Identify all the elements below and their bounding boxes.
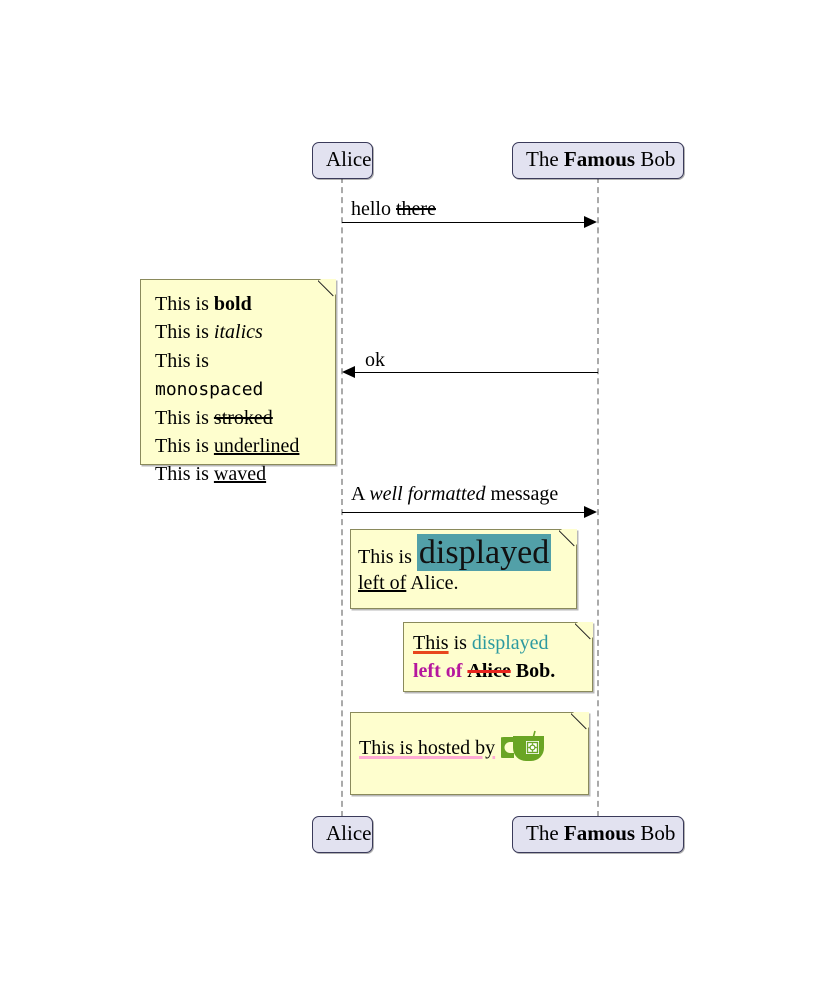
note-line-monospace-word: monospaced <box>155 379 263 400</box>
note-fold-edge-icon <box>559 530 576 547</box>
note-colored-teal: displayed <box>472 632 549 654</box>
note-colored-content: This is displayed left of Alice Bob. <box>404 623 592 692</box>
participant-alice-top[interactable]: Alice <box>312 142 373 179</box>
lifeline-alice <box>341 177 343 817</box>
note-line-waved-word: waved <box>214 463 266 485</box>
note-line-italic: This is italics <box>155 318 321 346</box>
note-hosted: This is hosted by <box>350 712 589 795</box>
message-ok-arrowhead-icon <box>342 366 355 378</box>
participant-bob-label-bold: Famous <box>564 821 635 845</box>
note-displayed-line2: left of Alice. <box>358 570 566 596</box>
note-line-monospace-prefix: This is <box>155 350 209 372</box>
message-formatted-text-italic: well formatted <box>369 483 485 505</box>
message-hello-label: hello there <box>351 199 436 219</box>
note-line-bold: This is bold <box>155 290 321 318</box>
message-formatted-line <box>342 512 586 513</box>
message-hello-line <box>342 222 586 223</box>
note-line-italic-prefix: This is <box>155 321 214 343</box>
note-formatting: This is bold This is italics This is mon… <box>140 279 336 465</box>
participant-bob-top[interactable]: The Famous Bob <box>512 142 684 179</box>
note-hosted-content: This is hosted by <box>351 713 588 783</box>
note-displayed-line1: This is displayed <box>358 536 566 570</box>
note-line-waved: This is waved <box>155 460 321 488</box>
note-colored: This is displayed left of Alice Bob. <box>403 622 593 692</box>
note-colored-bold: Bob. <box>511 660 555 682</box>
lifeline-bob <box>597 177 599 817</box>
sequence-diagram: Alice The Famous Bob hello there This is… <box>0 0 826 992</box>
note-colored-mid: is <box>449 632 472 654</box>
note-line-italic-word: italics <box>214 321 263 343</box>
note-displayed: This is displayed left of Alice. <box>350 529 577 609</box>
green-teacup-logo-icon <box>501 729 549 773</box>
note-line-stroked-prefix: This is <box>155 407 214 429</box>
participant-alice-label: Alice <box>326 147 371 171</box>
note-colored-line2: left of Alice Bob. <box>413 658 582 686</box>
message-hello-struck: there <box>396 198 436 220</box>
note-fold-edge-icon <box>571 713 588 730</box>
note-colored-magenta: left of <box>413 660 462 682</box>
message-formatted-text-a: A <box>351 483 369 505</box>
message-ok-label: ok <box>365 350 385 370</box>
note-colored-underlined: This <box>413 632 449 654</box>
message-ok-text: ok <box>365 349 385 371</box>
participant-bob-bottom[interactable]: The Famous Bob <box>512 816 684 853</box>
note-line-stroked-word: stroked <box>214 407 273 429</box>
note-line-monospace: This is monospaced <box>155 347 321 404</box>
participant-bob-label-prefix: The <box>526 821 564 845</box>
note-displayed-suffix: Alice. <box>406 572 458 594</box>
note-displayed-content: This is displayed left of Alice. <box>351 530 576 602</box>
message-hello-arrowhead-icon <box>584 216 597 228</box>
note-hosted-text: This is hosted by <box>359 737 495 759</box>
note-line-underlined-word: underlined <box>214 435 300 457</box>
message-formatted-text-b: message <box>485 483 558 505</box>
message-formatted-arrowhead-icon <box>584 506 597 518</box>
participant-bob-label-suffix: Bob <box>635 821 675 845</box>
note-line-stroked: This is stroked <box>155 404 321 432</box>
message-hello-text: hello <box>351 198 396 220</box>
note-displayed-prefix: This is <box>358 546 417 568</box>
note-displayed-highlight: displayed <box>417 534 551 571</box>
note-formatting-content: This is bold This is italics This is mon… <box>141 280 335 499</box>
participant-alice-bottom[interactable]: Alice <box>312 816 373 853</box>
note-displayed-underlined: left of <box>358 572 406 594</box>
participant-bob-label-suffix: Bob <box>635 147 675 171</box>
participant-alice-label: Alice <box>326 821 371 845</box>
note-fold-edge-icon <box>318 280 335 297</box>
note-line-bold-prefix: This is <box>155 293 214 315</box>
note-colored-struck: Alice <box>467 660 510 682</box>
participant-bob-label-bold: Famous <box>564 147 635 171</box>
note-fold-edge-icon <box>575 623 592 640</box>
message-formatted-label: A well formatted message <box>351 484 558 504</box>
note-line-waved-prefix: This is <box>155 463 214 485</box>
note-line-underlined-prefix: This is <box>155 435 214 457</box>
message-ok-line <box>355 372 598 373</box>
note-colored-line1: This is displayed <box>413 630 582 658</box>
note-line-bold-word: bold <box>214 293 252 315</box>
participant-bob-label-prefix: The <box>526 147 564 171</box>
note-line-underlined: This is underlined <box>155 432 321 460</box>
